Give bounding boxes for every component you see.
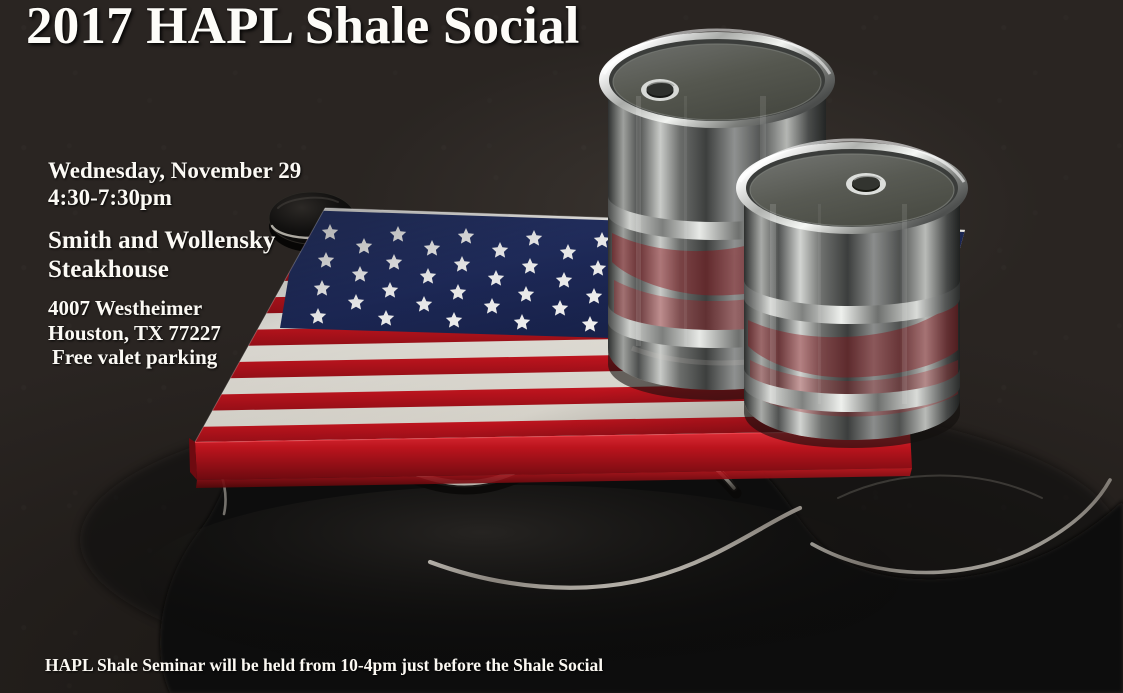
venue-city-state: Houston, TX 77227 [48, 321, 348, 346]
steel-oil-barrel-front [730, 132, 975, 462]
event-details: Wednesday, November 29 4:30-7:30pm Smith… [48, 158, 348, 370]
event-date: Wednesday, November 29 [48, 158, 348, 185]
venue-street: 4007 Westheimer [48, 296, 348, 321]
parking-note: Free valet parking [48, 345, 348, 370]
venue-name-line2: Steakhouse [48, 255, 348, 284]
page-title: 2017 HAPL Shale Social [26, 0, 580, 56]
poster-canvas: 2017 HAPL Shale Social Wednesday, Novemb… [0, 0, 1123, 693]
oil-barrel-icon [730, 132, 975, 462]
seminar-footer-note: HAPL Shale Seminar will be held from 10-… [45, 655, 603, 676]
event-time: 4:30-7:30pm [48, 185, 348, 212]
venue-name-line1: Smith and Wollensky [48, 226, 348, 255]
